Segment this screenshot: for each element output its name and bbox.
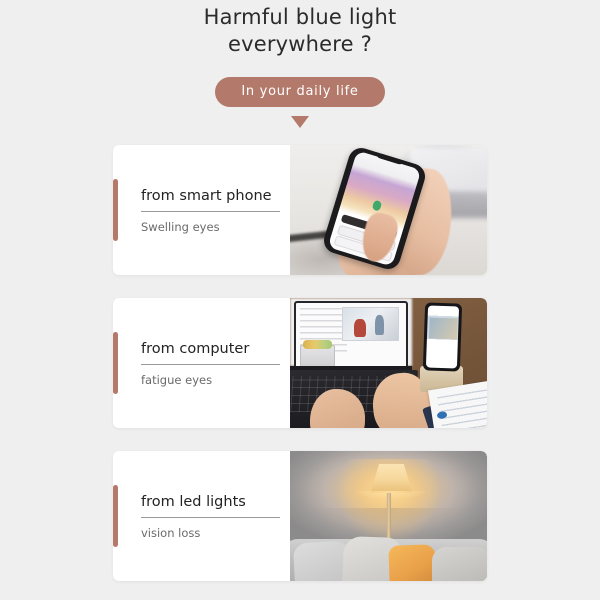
- title-divider: [141, 211, 280, 212]
- card-text-area: from smart phone Swelling eyes: [113, 145, 290, 275]
- cards-list: from smart phone Swelling eyes: [0, 145, 600, 581]
- badge-container: In your daily life: [0, 77, 600, 107]
- orange-cushion: [388, 544, 437, 581]
- card-inner: from led lights vision loss: [113, 492, 290, 541]
- phone-screen: [426, 305, 460, 368]
- card-title: from smart phone: [141, 186, 280, 206]
- card-subtitle: Swelling eyes: [141, 220, 280, 235]
- accent-bar: [113, 485, 118, 547]
- card-title: from computer: [141, 339, 280, 359]
- webpage-cart-graphic: [300, 345, 335, 369]
- list-item[interactable]: from smart phone Swelling eyes: [113, 145, 487, 275]
- page-header: Harmful blue light everywhere ? In your …: [0, 0, 600, 128]
- webpage-image: [342, 307, 399, 341]
- card-title: from led lights: [141, 492, 280, 512]
- card-inner: from computer fatigue eyes: [113, 339, 290, 388]
- phone-screen-image: [429, 318, 457, 340]
- title-divider: [141, 517, 280, 518]
- sofa-cushion: [432, 547, 487, 581]
- card-text-area: from computer fatigue eyes: [113, 298, 290, 428]
- webpage-figure: [375, 315, 384, 335]
- daily-life-badge: In your daily life: [215, 77, 384, 107]
- accent-bar: [113, 332, 118, 394]
- card-subtitle: fatigue eyes: [141, 373, 280, 388]
- webpage-figure: [354, 319, 366, 337]
- paper-text-lines: [437, 388, 487, 428]
- hands-typing-on-laptop-photo: [290, 298, 487, 428]
- hand-holding-smartphone-photo: [290, 145, 487, 275]
- card-subtitle: vision loss: [141, 526, 280, 541]
- triangle-down-icon: [291, 116, 309, 128]
- card-text-area: from led lights vision loss: [113, 451, 290, 581]
- list-item[interactable]: from led lights vision loss: [113, 451, 487, 581]
- arrow-container: [0, 116, 600, 128]
- page-title: Harmful blue light everywhere ?: [165, 4, 435, 58]
- smartphone-device: [423, 303, 463, 372]
- laptop-screen: [294, 301, 408, 373]
- lit-floor-lamp-beside-sofa-photo: [290, 451, 487, 581]
- cart-items: [303, 340, 332, 349]
- accent-bar: [113, 179, 118, 241]
- card-inner: from smart phone Swelling eyes: [113, 186, 290, 235]
- screen-badge-dot: [372, 200, 383, 211]
- list-item[interactable]: from computer fatigue eyes: [113, 298, 487, 428]
- title-divider: [141, 364, 280, 365]
